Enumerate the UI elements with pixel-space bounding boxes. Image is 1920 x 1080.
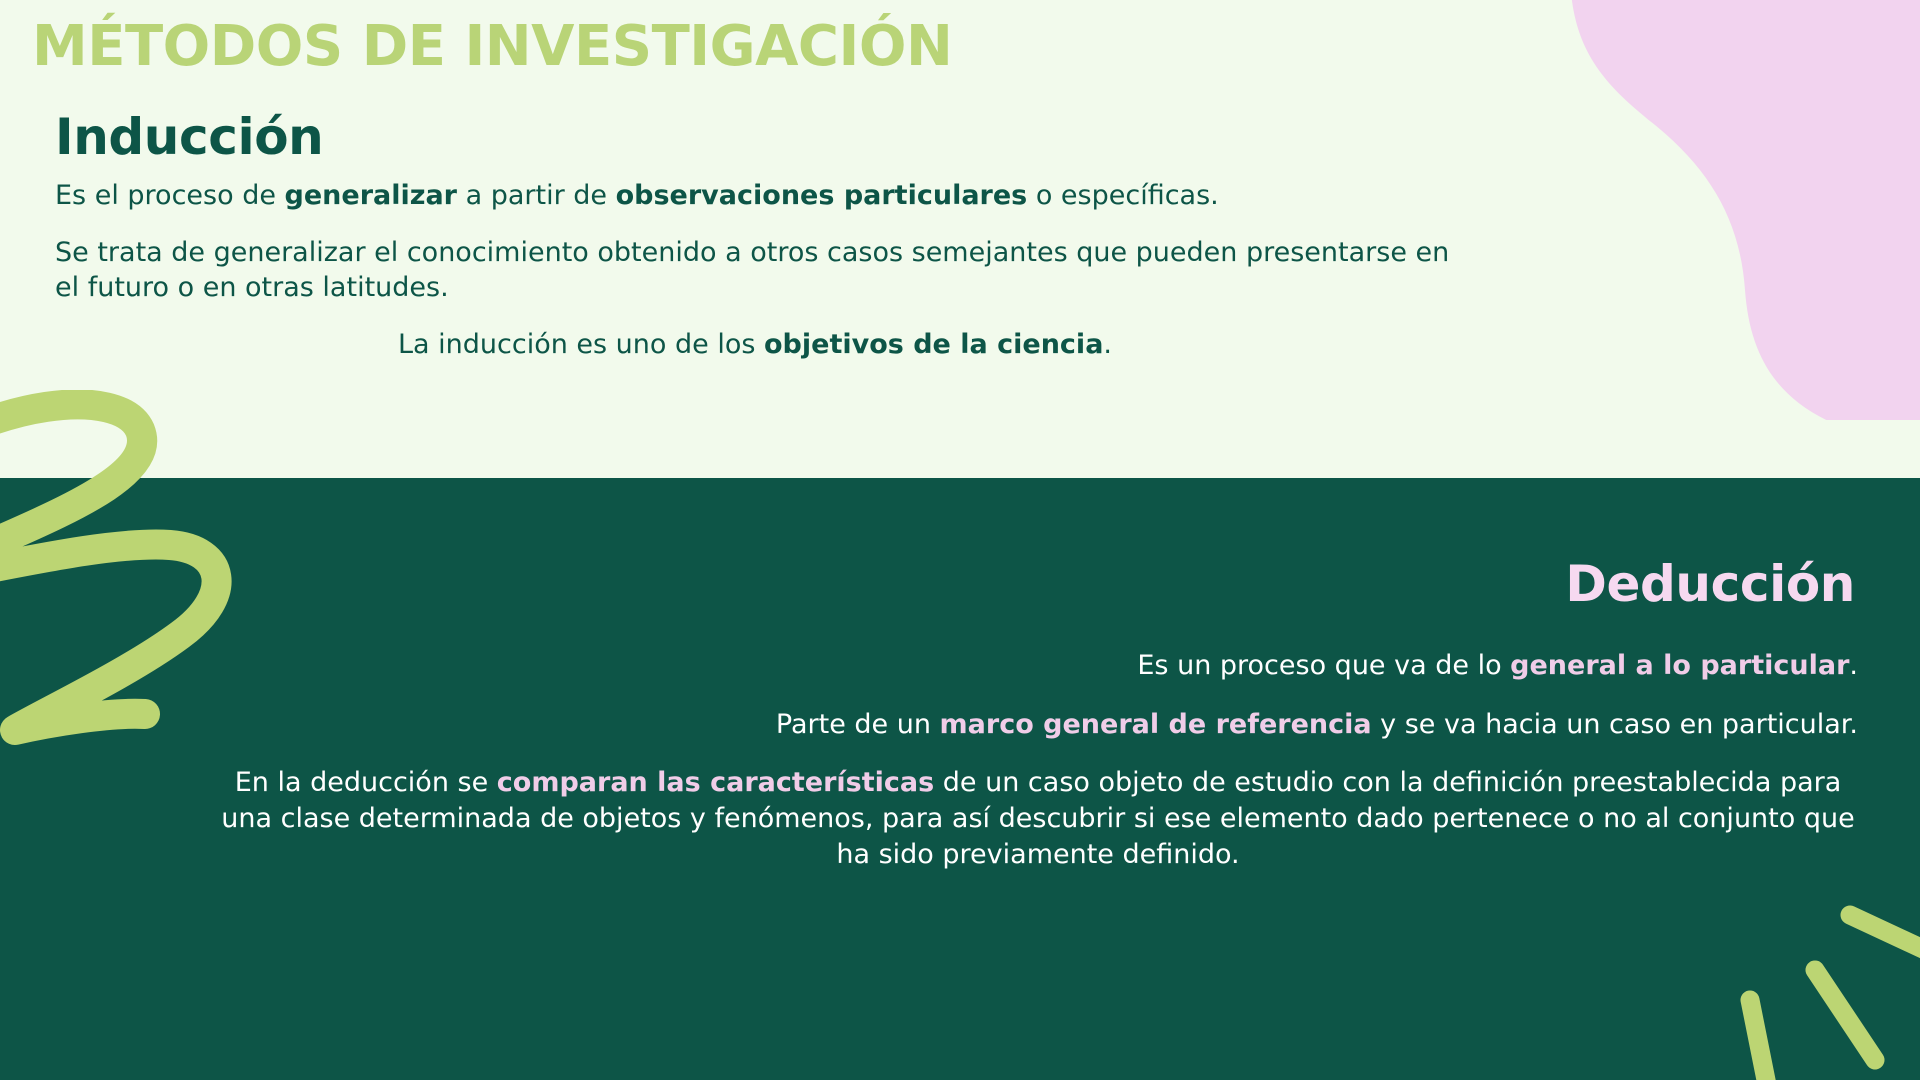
emphasis-text: general a lo particular (1510, 650, 1849, 681)
body-text: La inducción es uno de los (398, 329, 764, 360)
body-text: En la deducción se (235, 767, 497, 798)
body-text: Parte de un (776, 709, 940, 740)
emphasis-text: observaciones particulares (616, 180, 1028, 211)
heading-deduccion: Deducción (1565, 555, 1855, 613)
emphasis-text: objetivos de la ciencia (764, 329, 1103, 360)
emphasis-text: marco general de referencia (940, 709, 1372, 740)
body-text: o específicas. (1027, 180, 1219, 211)
paragraph: Es un proceso que va de lo general a lo … (218, 648, 1858, 684)
induccion-body: Es el proceso de generalizar a partir de… (55, 178, 1455, 384)
body-text: a partir de (457, 180, 616, 211)
paragraph: Parte de un marco general de referencia … (218, 707, 1858, 743)
paragraph: La inducción es uno de los objetivos de … (55, 327, 1455, 362)
heading-induccion: Inducción (55, 108, 323, 166)
slide-canvas: MÉTODOS DE INVESTIGACIÓN Inducción Es el… (0, 0, 1920, 1080)
body-text: . (1849, 650, 1858, 681)
body-text: Es un proceso que va de lo (1137, 650, 1510, 681)
emphasis-text: generalizar (285, 180, 457, 211)
deduccion-body: Es un proceso que va de lo general a lo … (218, 648, 1858, 872)
paragraph: En la deducción se comparan las caracter… (218, 765, 1858, 872)
body-text: Es el proceso de (55, 180, 285, 211)
emphasis-text: comparan las características (497, 767, 934, 798)
body-text: . (1103, 329, 1112, 360)
body-text: Se trata de generalizar el conocimiento … (55, 237, 1449, 303)
page-title: MÉTODOS DE INVESTIGACIÓN (32, 14, 952, 79)
paragraph: Es el proceso de generalizar a partir de… (55, 178, 1455, 213)
paragraph: Se trata de generalizar el conocimiento … (55, 235, 1455, 305)
body-text: y se va hacia un caso en particular. (1372, 709, 1858, 740)
